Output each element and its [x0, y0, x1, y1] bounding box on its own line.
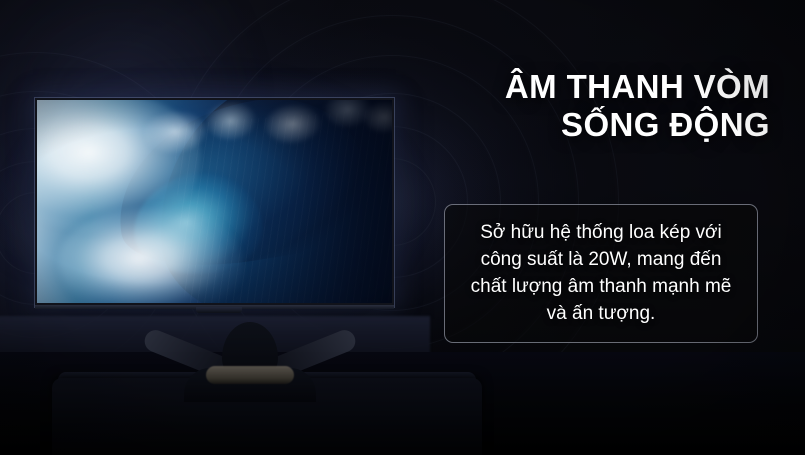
television: [35, 98, 394, 307]
copy-block: ÂM THANH VÒM SỐNG ĐỘNG: [430, 68, 770, 144]
tv-stand-nub: [196, 307, 242, 313]
wave-vignette: [37, 100, 392, 303]
ocean-wave-image: [37, 100, 392, 303]
tv-screen: [37, 100, 392, 303]
description-text: Sở hữu hệ thống loa kép với công suất là…: [461, 219, 741, 327]
page-title: ÂM THANH VÒM SỐNG ĐỘNG: [430, 68, 770, 144]
description-callout: Sở hữu hệ thống loa kép với công suất là…: [444, 204, 758, 343]
headline-line-2: SỐNG ĐỘNG: [430, 106, 770, 144]
headline-line-1: ÂM THANH VÒM: [430, 68, 770, 106]
viewer-hands: [206, 366, 294, 384]
surround-sound-banner: ÂM THANH VÒM SỐNG ĐỘNG Sở hữu hệ thống l…: [0, 0, 805, 455]
viewer-silhouette: [150, 322, 350, 394]
